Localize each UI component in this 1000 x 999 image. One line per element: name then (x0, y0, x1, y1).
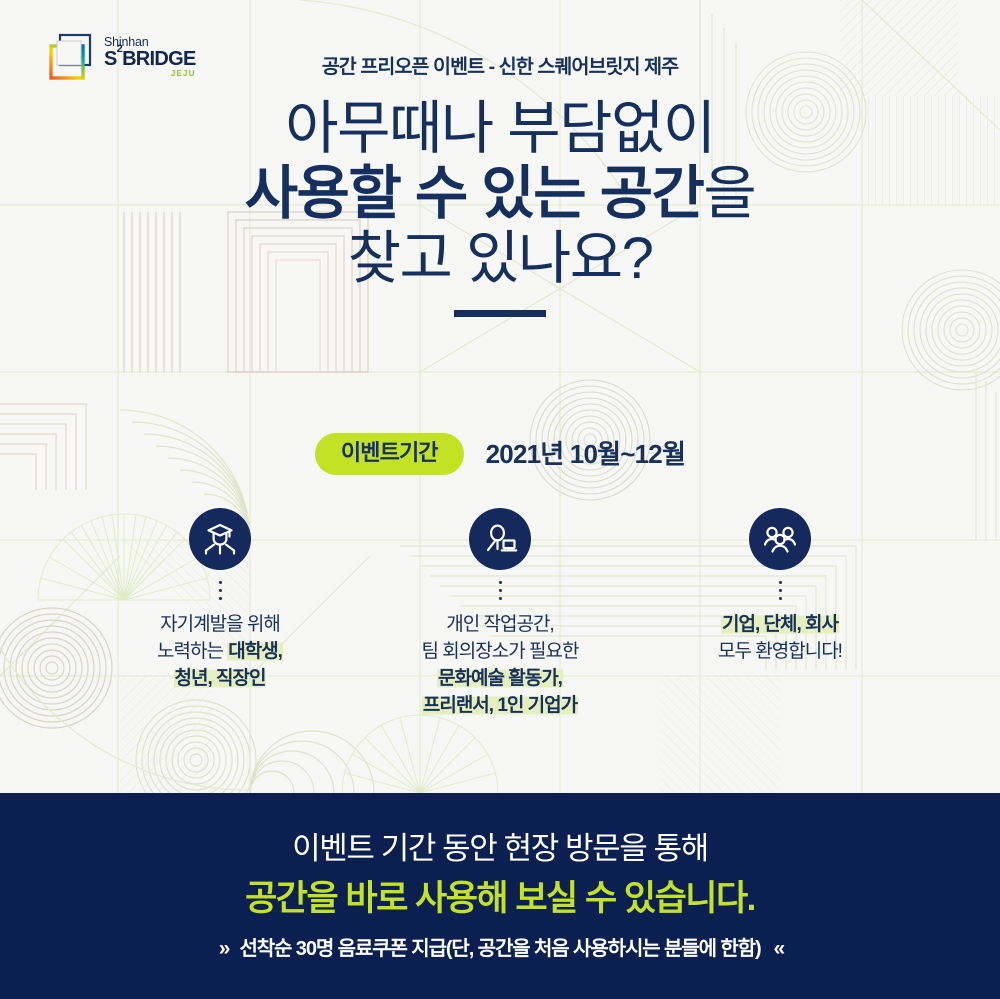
audience-text-student: 자기계발을 위해 노력하는 대학생, 청년, 직장인 (157, 612, 283, 693)
headline-line-3: 찾고 있나요? (0, 230, 1000, 288)
audience-text-company: 기업, 단체, 회사 모두 환영합니다! (718, 612, 842, 666)
audience-connector-dots (219, 581, 222, 600)
double-chevron-left-icon: « (774, 938, 782, 959)
audience-row: 자기계발을 위해 노력하는 대학생, 청년, 직장인 (0, 508, 1000, 720)
event-period-badge: 이벤트기간 (315, 433, 464, 475)
audience-column-freelancer: 개인 작업공간, 팀 회의장소가 필요한 문화예술 활동가, 프리랜서, 1인 … (360, 508, 640, 720)
audience-icon-circle (469, 508, 531, 570)
headline-line-2: 사용할 수 있는 공간을 (0, 165, 1000, 223)
headline-line-1: 아무때나 부담없이 (0, 100, 1000, 158)
upper-content-area: Shinhan S2BRIDGE JEJU 공간 프리오픈 이벤트 - 신한 스… (0, 0, 1000, 793)
audience-column-company: 기업, 단체, 회사 모두 환영합니다! (640, 508, 920, 666)
headline-group: 공간 프리오픈 이벤트 - 신한 스퀘어브릿지 제주 아무때나 부담없이 사용할… (0, 58, 1000, 317)
group-of-people-icon (761, 520, 799, 558)
audience-icon-circle (749, 508, 811, 570)
cta-line-1: 이벤트 기간 동안 현장 방문을 통해 (292, 833, 708, 864)
audience-text-freelancer: 개인 작업공간, 팀 회의장소가 필요한 문화예술 활동가, 프리랜서, 1인 … (422, 612, 579, 720)
event-period-value: 2021년 10월~12월 (486, 441, 685, 467)
headline-line-2-light: 을 (703, 161, 755, 226)
event-period-row: 이벤트기간 2021년 10월~12월 (0, 433, 1000, 475)
cta-note-row: » 선착순 30명 음료쿠폰 지급(단, 공간을 처음 사용하시는 분들에 한함… (219, 938, 781, 959)
cta-banner: 이벤트 기간 동안 현장 방문을 통해 공간을 바로 사용해 보실 수 있습니다… (0, 793, 1000, 999)
eyebrow-text: 공간 프리오픈 이벤트 - 신한 스퀘어브릿지 제주 (0, 58, 1000, 78)
person-with-laptop-icon (481, 520, 519, 558)
promo-poster: Shinhan S2BRIDGE JEJU 공간 프리오픈 이벤트 - 신한 스… (0, 0, 1000, 999)
cta-note-text: 선착순 30명 음료쿠폰 지급(단, 공간을 처음 사용하시는 분들에 한함) (239, 939, 760, 959)
graduate-student-icon (201, 520, 239, 558)
audience-column-student: 자기계발을 위해 노력하는 대학생, 청년, 직장인 (80, 508, 360, 693)
audience-connector-dots (779, 581, 782, 600)
headline-divider-rule (454, 310, 546, 317)
double-chevron-right-icon: » (219, 938, 227, 959)
headline-line-2-strong: 사용할 수 있는 공간 (245, 161, 704, 226)
cta-line-2: 공간을 바로 사용해 보실 수 있습니다. (245, 881, 755, 916)
audience-connector-dots (499, 581, 502, 600)
audience-icon-circle (189, 508, 251, 570)
